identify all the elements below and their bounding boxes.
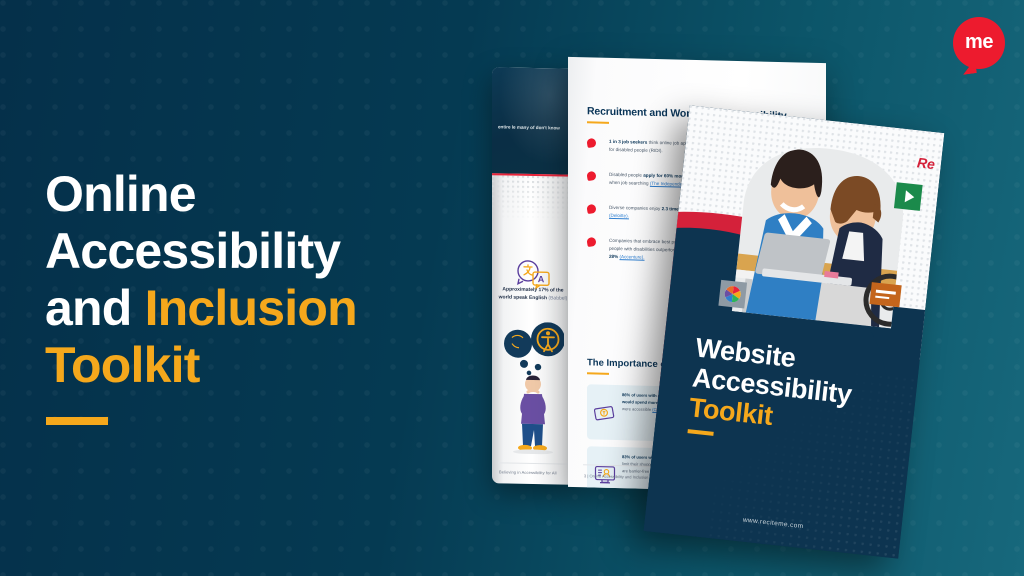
curled-page-header-text: entire le many of don't know [498,123,570,133]
headline-line-4-highlight: Toolkit [45,337,200,393]
thinking-person-illustration [502,321,564,454]
bullet-text: Disabled people [609,172,643,178]
brochure-mockup: entire le many of don't know A Approxima… [470,40,1024,540]
title-underline-rule [46,417,108,425]
headline-line-2: Accessibility [45,223,340,279]
svg-text:A: A [538,274,545,284]
bullet-source-link[interactable]: (Deloitte). [609,213,629,218]
curled-page-header-photo [492,67,574,175]
bullet-source-link[interactable]: (Accenture). [619,254,644,260]
curled-page-footer: Believing in Accessibility for All [499,469,557,475]
color-wheel-badge-icon [718,280,747,309]
stat-source: (Babbel) [548,295,567,301]
curled-page-footer-divider [498,462,568,464]
money-icon [593,391,617,433]
inner-subheading-underline [587,372,609,375]
bullet-dot-icon [586,204,596,214]
bullet-dot-icon [586,171,596,181]
curled-page-stat: Approximately 17% of the world speak Eng… [496,285,570,302]
front-cover: Re [644,105,945,558]
cover-photo [712,132,930,331]
bullet-dot-icon [586,237,596,247]
text-lines-badge-icon [869,282,901,307]
headline-line-3-plain: and [45,280,145,336]
bullet-lead: 1 in 3 job seekers [609,139,647,145]
page-title: Online Accessibility and Inclusion Toolk… [45,166,475,394]
headline-line-3-highlight: Inclusion [145,280,357,336]
bullet-text: Diverse companies enjoy [609,205,662,211]
bullet-dot-icon [586,138,596,148]
play-badge-icon [894,182,923,211]
hero-banner: me Online Accessibility and Inclusion To… [0,0,1024,576]
inner-heading-underline [587,121,609,124]
curled-left-page: entire le many of don't know A Approxima… [492,67,574,485]
curled-page-halftone [492,175,574,223]
headline-line-1: Online [45,166,196,222]
